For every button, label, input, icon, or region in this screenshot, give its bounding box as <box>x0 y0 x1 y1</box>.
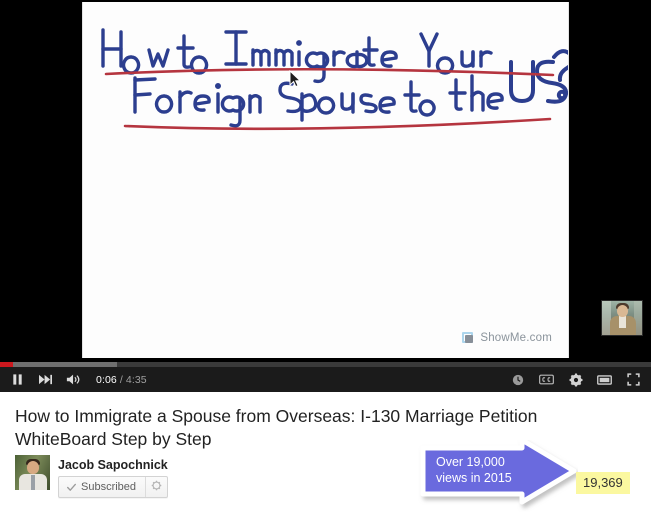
autoplay-toggle-icon[interactable] <box>510 372 525 387</box>
pause-icon[interactable] <box>10 372 25 387</box>
theater-mode-icon[interactable] <box>597 372 612 387</box>
subscribe-button-group[interactable]: Subscribed <box>58 476 168 498</box>
time-separator: / <box>117 374 126 386</box>
closed-captions-icon[interactable] <box>539 372 554 387</box>
page-title: How to Immigrate a Spouse from Overseas:… <box>15 405 575 451</box>
next-video-icon[interactable] <box>38 372 53 387</box>
current-time: 0:06 <box>96 374 117 386</box>
checkmark-icon <box>67 483 76 492</box>
gear-icon <box>151 478 162 496</box>
channel-name[interactable]: Jacob Sapochnick <box>58 458 168 472</box>
handwritten-title <box>83 2 568 358</box>
channel-avatar[interactable] <box>15 455 50 490</box>
gear-icon[interactable] <box>568 372 583 387</box>
video-player[interactable]: ShowMe.com <box>0 0 651 392</box>
watermark-label: ShowMe.com <box>480 332 552 344</box>
video-stage[interactable]: ShowMe.com <box>0 0 651 358</box>
player-controls-left: 0:06 / 4:35 <box>0 372 147 387</box>
subscribe-settings-button[interactable] <box>145 477 167 497</box>
fullscreen-icon[interactable] <box>626 372 641 387</box>
time-display: 0:06 / 4:35 <box>96 374 147 386</box>
volume-on-icon[interactable] <box>66 372 81 387</box>
subscribed-label: Subscribed <box>81 481 136 493</box>
showme-logo-icon <box>462 331 475 344</box>
player-controls-right <box>510 372 651 387</box>
whiteboard-canvas: ShowMe.com <box>82 2 569 358</box>
presenter-webcam-thumbnail[interactable] <box>601 300 643 336</box>
view-count: 19,369 <box>576 472 630 494</box>
showme-watermark: ShowMe.com <box>462 331 552 344</box>
player-controls-bar[interactable]: 0:06 / 4:35 <box>0 367 651 392</box>
subscribed-button[interactable]: Subscribed <box>59 477 145 497</box>
total-time: 4:35 <box>126 374 147 386</box>
